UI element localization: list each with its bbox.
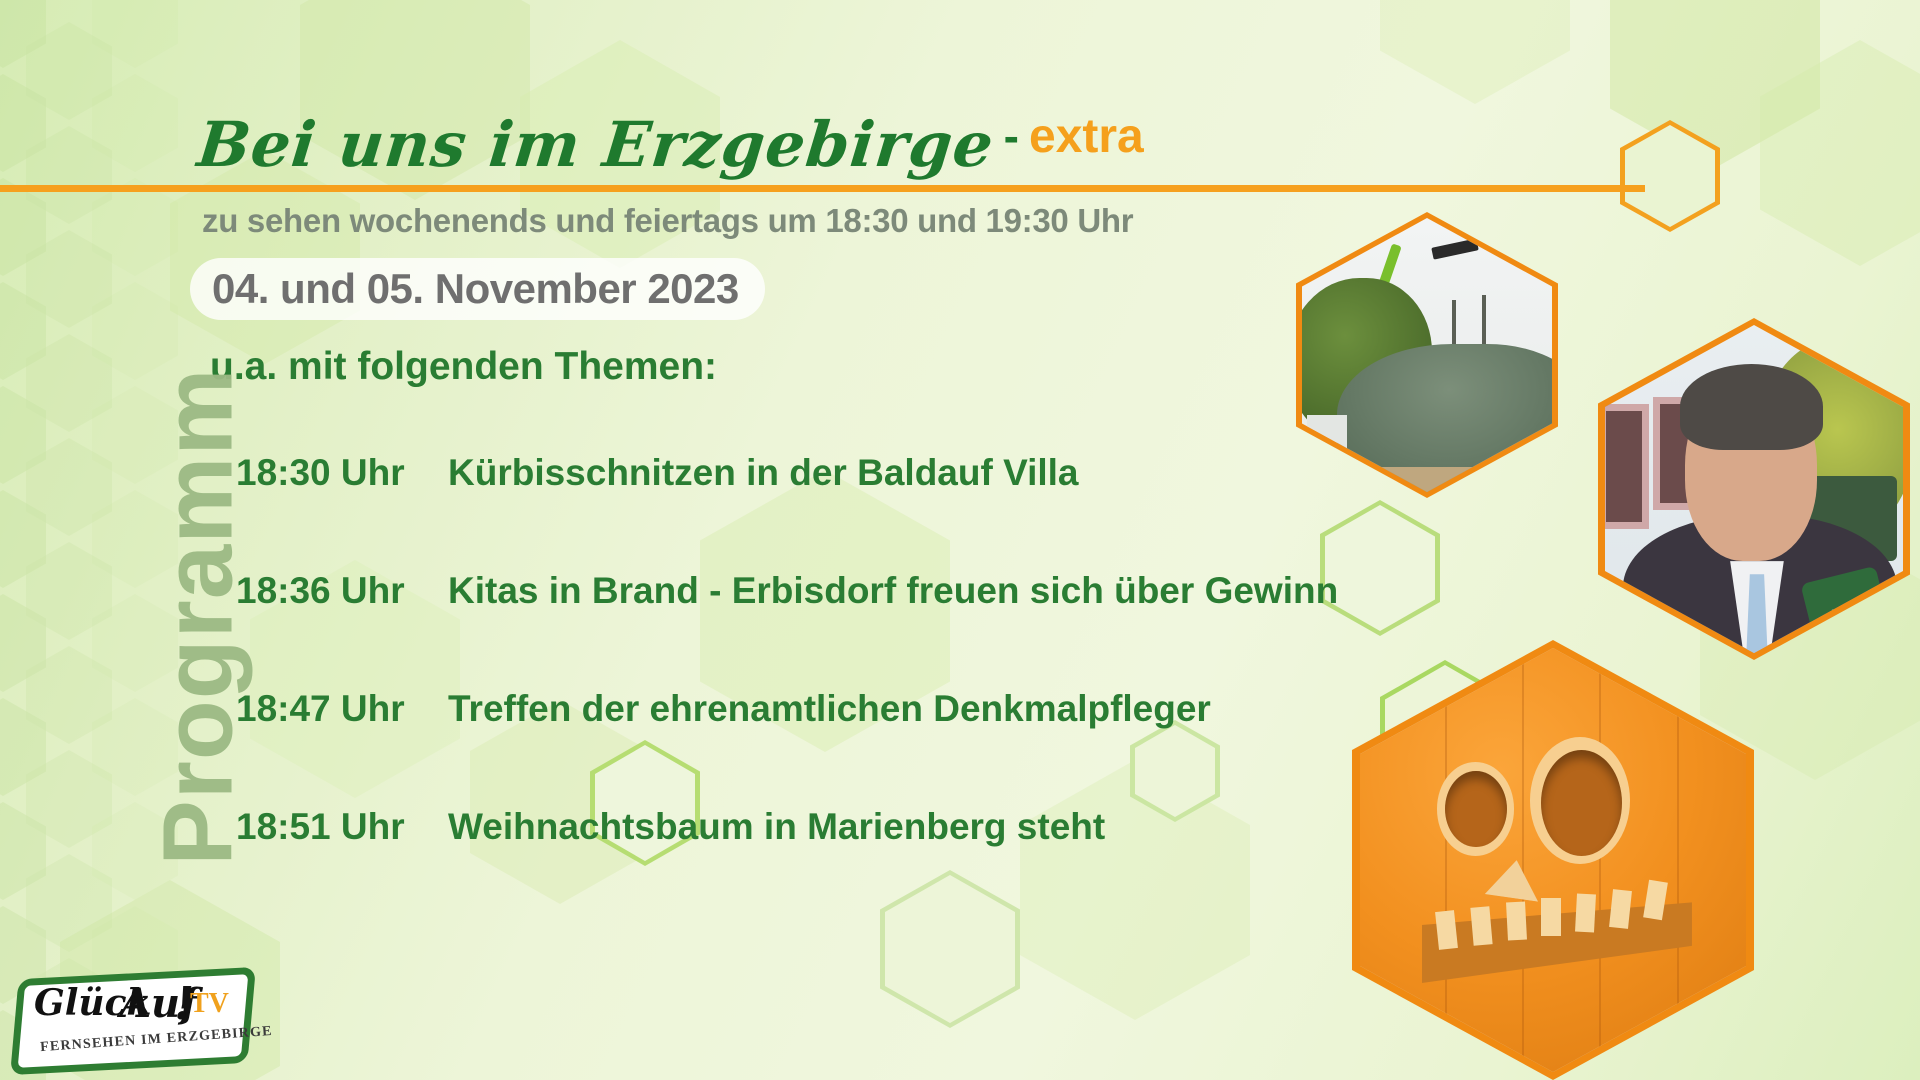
date-badge: 04. und 05. November 2023 <box>190 258 765 320</box>
interview-name-caption: Rico <box>1839 622 1891 650</box>
schedule-time: 18:30 Uhr <box>236 452 448 494</box>
deco-hex <box>1380 0 1570 104</box>
date-label: 04. und 05. November 2023 <box>212 265 739 313</box>
deco-hex <box>1760 40 1920 266</box>
broadcast-program-slide: Bei uns im Erzgebirge-extra zu sehen woc… <box>0 0 1920 1080</box>
title-dash: - <box>994 109 1029 163</box>
schedule-time: 18:47 Uhr <box>236 688 448 730</box>
interview-man-photo: Rico <box>1605 325 1903 653</box>
schedule-title: Weihnachtsbaum in Marienberg steht <box>448 806 1105 848</box>
pumpkin-eye-left <box>1445 771 1507 847</box>
schedule-title: Treffen der ehrenamtlichen Denkmalpflege… <box>448 688 1211 730</box>
topics-intro: u.a. mit folgenden Themen: <box>210 345 717 389</box>
logo-tv: TV <box>190 988 229 1020</box>
schedule-title: Kitas in Brand - Erbisdorf freuen sich ü… <box>448 570 1338 612</box>
schedule-row: 18:51 Uhr Weihnachtsbaum in Marienberg s… <box>236 806 1396 924</box>
title-extra: extra <box>1029 109 1144 164</box>
schedule-row: 18:30 Uhr Kürbisschnitzen in der Baldauf… <box>236 452 1396 570</box>
page-title: Bei uns im Erzgebirge-extra <box>198 108 1144 181</box>
schedule-row: 18:36 Uhr Kitas in Brand - Erbisdorf fre… <box>236 570 1396 688</box>
schedule-time: 18:51 Uhr <box>236 806 448 848</box>
christmas-tree-crane-photo <box>1302 218 1552 492</box>
header-rule <box>0 185 1645 192</box>
schedule-row: 18:47 Uhr Treffen der ehrenamtlichen Den… <box>236 688 1396 806</box>
photo-hair <box>1680 364 1823 449</box>
channel-logo: Glück Auf ! TV ® FERNSEHEN IM ERZGEBIRGE <box>22 980 244 1062</box>
title-script: Bei uns im Erzgebirge <box>194 108 997 181</box>
logo-registered: ® <box>184 986 193 988</box>
schedule-title: Kürbisschnitzen in der Baldauf Villa <box>448 452 1079 494</box>
photo-window <box>1605 404 1649 530</box>
deco-hex <box>1610 0 1820 168</box>
schedule-time: 18:36 Uhr <box>236 570 448 612</box>
deco-hex-outline <box>1620 120 1720 232</box>
schedule-list: 18:30 Uhr Kürbisschnitzen in der Baldauf… <box>236 452 1396 924</box>
carved-pumpkin-photo <box>1360 648 1746 1072</box>
pumpkin-eye-right <box>1541 750 1622 856</box>
broadcast-times-subline: zu sehen wochenends und feiertags um 18:… <box>202 202 1133 240</box>
pumpkin-body <box>1360 648 1746 1072</box>
